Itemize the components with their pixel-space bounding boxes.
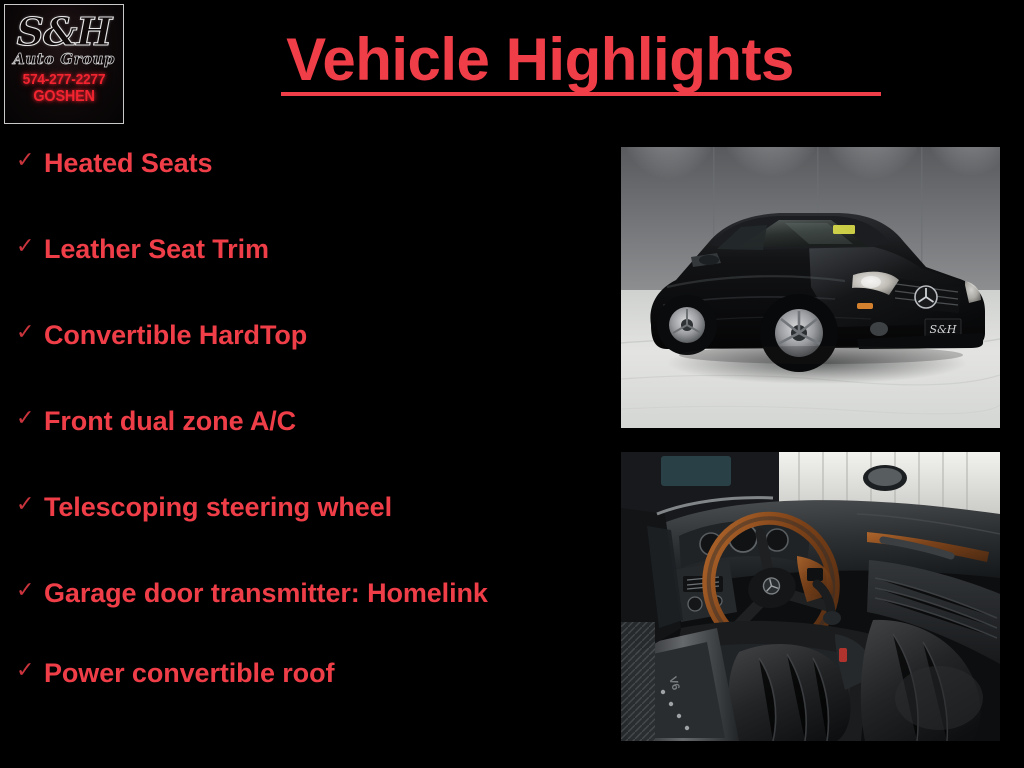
list-item-label: Telescoping steering wheel bbox=[44, 490, 600, 524]
page-title: Vehicle Highlights bbox=[140, 26, 940, 94]
dealer-logo-brand: S&H bbox=[17, 11, 112, 53]
vehicle-highlights-list: ✓ Heated Seats ✓ Leather Seat Trim ✓ Con… bbox=[10, 146, 600, 736]
interior-vehicle-photo: V6 bbox=[621, 452, 1000, 741]
list-item: ✓ Telescoping steering wheel bbox=[10, 490, 600, 537]
title-underline-rule bbox=[281, 92, 881, 96]
list-item-label: Garage door transmitter: Homelink bbox=[44, 576, 600, 610]
dealer-logo-phone: 574-277-2277 bbox=[23, 71, 106, 88]
list-item-label: Leather Seat Trim bbox=[44, 232, 600, 266]
check-icon: ✓ bbox=[10, 576, 44, 606]
check-icon: ✓ bbox=[10, 490, 44, 520]
list-item: ✓ Heated Seats bbox=[10, 146, 600, 193]
dealer-logo-city: GOSHEN bbox=[33, 88, 94, 106]
list-item: ✓ Convertible HardTop bbox=[10, 318, 600, 365]
check-icon: ✓ bbox=[10, 318, 44, 348]
exterior-vehicle-photo: S&H bbox=[621, 147, 1000, 428]
dealer-logo-subtitle: Auto Group bbox=[13, 51, 115, 68]
list-item: ✓ Leather Seat Trim bbox=[10, 232, 600, 279]
list-item: ✓ Front dual zone A/C bbox=[10, 404, 600, 451]
check-icon: ✓ bbox=[10, 656, 44, 686]
dealer-logo: S&H Auto Group 574-277-2277 GOSHEN bbox=[4, 4, 124, 124]
list-item: ✓ Garage door transmitter: Homelink bbox=[10, 576, 600, 623]
svg-text:S&H: S&H bbox=[930, 323, 957, 336]
list-item-label: Power convertible roof bbox=[44, 656, 600, 690]
check-icon: ✓ bbox=[10, 232, 44, 262]
check-icon: ✓ bbox=[10, 146, 44, 176]
list-item-label: Heated Seats bbox=[44, 146, 600, 180]
interior-vehicle-illustration: V6 bbox=[621, 452, 1000, 741]
check-icon: ✓ bbox=[10, 404, 44, 434]
list-item-label: Front dual zone A/C bbox=[44, 404, 600, 438]
exterior-vehicle-illustration: S&H bbox=[621, 147, 1000, 428]
list-item: ✓ Power convertible roof bbox=[10, 656, 600, 703]
list-item-label: Convertible HardTop bbox=[44, 318, 600, 352]
